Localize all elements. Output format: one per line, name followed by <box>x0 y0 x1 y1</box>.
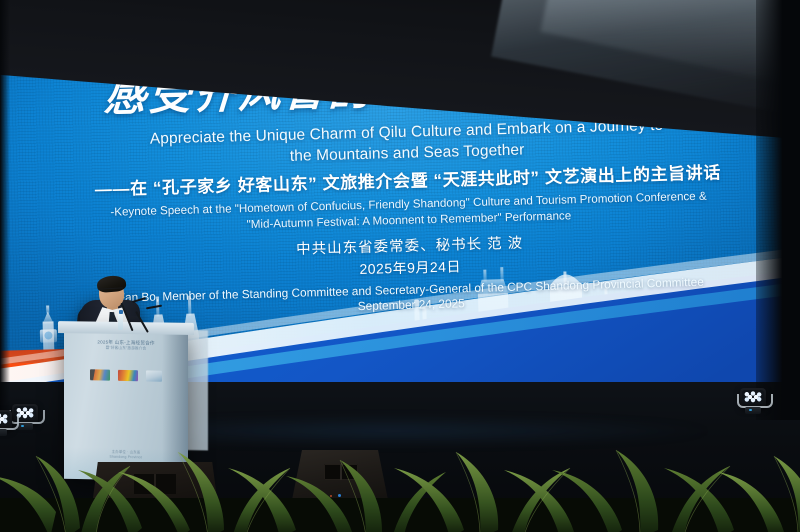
water-bottle <box>118 314 123 330</box>
podium-logo-a-icon <box>90 369 110 380</box>
podium-top-surface <box>58 321 194 335</box>
right-wall-shadow <box>756 0 800 420</box>
podium-logo-b-icon <box>118 370 138 381</box>
palm-plants-row <box>0 388 800 532</box>
left-wall-shadow <box>0 0 10 430</box>
podium-logo-c-icon <box>146 370 162 381</box>
stage-photo: 感受齐风鲁韵 相约山海之行 Appreciate the Unique Char… <box>0 0 800 532</box>
eyeglasses-icon <box>100 287 123 294</box>
podium-logo-row <box>76 369 176 382</box>
